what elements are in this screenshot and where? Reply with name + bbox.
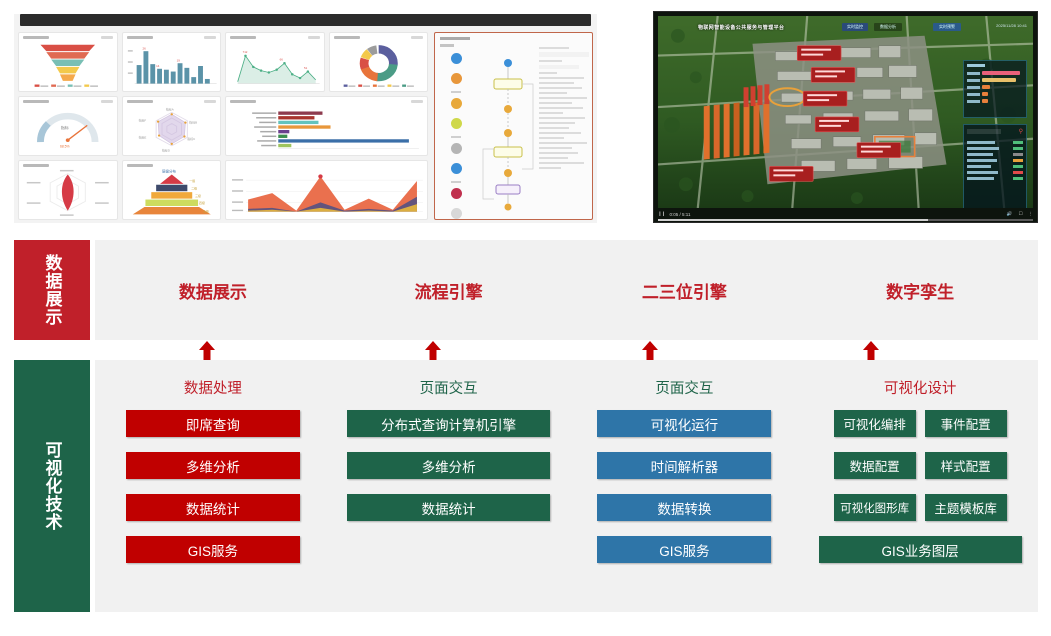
pyramid-chart-card: 一级二级三级四级五级 层级分布 bbox=[122, 160, 222, 220]
box-row: GIS服务 bbox=[95, 536, 331, 563]
tech-box[interactable]: 主题模板库 bbox=[925, 494, 1007, 521]
card-actions-icon bbox=[101, 36, 113, 39]
box-stack: 可视化编排 事件配置 数据配置 样式配置 可视化图形库 主题模板库 GIS业务图… bbox=[802, 410, 1038, 563]
video-timestamp: 0:05 / 5:11 bbox=[670, 212, 691, 217]
svg-text:指标F: 指标F bbox=[138, 119, 146, 123]
donut-chart-icon bbox=[330, 41, 428, 91]
horizontal-bar-chart-icon bbox=[226, 105, 427, 155]
flow-panel-subtitle-bar bbox=[440, 44, 454, 47]
svg-text:14: 14 bbox=[156, 64, 160, 68]
box-row: 即席查询 bbox=[95, 410, 331, 437]
svg-text:指标A: 指标A bbox=[165, 108, 173, 112]
svg-text:一级: 一级 bbox=[189, 179, 195, 183]
area-line-chart-icon: 7126651 bbox=[226, 41, 324, 91]
palette-node-icon[interactable] bbox=[451, 163, 462, 174]
card-actions-icon bbox=[204, 100, 216, 103]
card-actions-icon bbox=[411, 100, 423, 103]
palette-node-icon[interactable] bbox=[451, 143, 462, 154]
card-title-bar bbox=[23, 36, 49, 39]
tech-box[interactable]: GIS服务 bbox=[126, 536, 300, 563]
svg-text:三级: 三级 bbox=[195, 194, 201, 198]
box-row: 时间解析器 bbox=[567, 452, 803, 479]
tech-box[interactable]: 数据统计 bbox=[126, 494, 300, 521]
bi-dashboard-screenshot: 261419 bbox=[14, 14, 597, 223]
stacked-area-chart-card bbox=[225, 160, 428, 220]
tech-box[interactable]: 多维分析 bbox=[347, 452, 550, 479]
up-arrow-icon bbox=[198, 341, 216, 360]
radar-chart-icon: 指标A指标B指标C指标D指标E指标F bbox=[123, 105, 221, 155]
svg-text:层级分布: 层级分布 bbox=[162, 169, 177, 174]
volume-icon[interactable]: 🔊 bbox=[1007, 211, 1013, 217]
diagram-page: 261419 bbox=[0, 0, 1051, 636]
svg-text:指标: 指标 bbox=[61, 125, 69, 130]
palette-node-icon[interactable] bbox=[451, 118, 462, 129]
palette-label bbox=[451, 136, 461, 138]
column-header: 页面交互 bbox=[420, 377, 478, 398]
card-actions-icon bbox=[308, 36, 320, 39]
svg-text:51: 51 bbox=[304, 66, 308, 70]
box-row: 可视化图形库 主题模板库 bbox=[802, 494, 1038, 521]
up-arrow-icon bbox=[641, 341, 659, 360]
card-title-bar bbox=[127, 100, 153, 103]
box-row-empty bbox=[331, 536, 567, 563]
column-flow-engine: 流程引擎 bbox=[331, 240, 567, 340]
box-row: 多维分析 bbox=[95, 452, 331, 479]
map-callout-markers[interactable] bbox=[658, 16, 1033, 208]
box-row: 数据转换 bbox=[567, 494, 803, 521]
tech-box[interactable]: 可视化运行 bbox=[597, 410, 771, 437]
svg-text:19: 19 bbox=[176, 58, 180, 62]
tech-box[interactable]: 分布式查询计算机引擎 bbox=[347, 410, 550, 437]
tech-box[interactable]: 数据统计 bbox=[347, 494, 550, 521]
column-data-display: 数据展示 bbox=[95, 240, 331, 340]
palette-node-icon[interactable] bbox=[451, 208, 462, 219]
box-row: 可视化运行 bbox=[567, 410, 803, 437]
card-title-bar bbox=[127, 36, 153, 39]
tech-box[interactable]: 可视化图形库 bbox=[834, 494, 916, 521]
box-row: GIS业务图层 bbox=[802, 536, 1038, 563]
palette-node-icon[interactable] bbox=[451, 73, 462, 84]
column-2d3d-engine: 二三位引擎 bbox=[567, 240, 803, 340]
svg-text:68.5%: 68.5% bbox=[60, 145, 70, 149]
column-digital-twin: 数字孪生 bbox=[802, 240, 1038, 340]
tech-box[interactable]: 多维分析 bbox=[126, 452, 300, 479]
palette-label bbox=[451, 181, 461, 183]
stacked-area-chart-icon bbox=[226, 169, 427, 219]
more-options-icon[interactable]: ⋮ bbox=[1029, 211, 1034, 217]
band-bottom-columns: 数据处理 即席查询 多维分析 数据统计 GIS服务 bbox=[95, 360, 1038, 612]
card-title-bar bbox=[230, 100, 256, 103]
box-row: 数据统计 bbox=[95, 494, 331, 521]
bi-dashboard-titlebar bbox=[20, 14, 591, 26]
column-header: 二三位引擎 bbox=[642, 278, 727, 303]
tech-box[interactable]: 数据配置 bbox=[834, 452, 916, 479]
tech-box[interactable]: 数据转换 bbox=[597, 494, 771, 521]
box-row: 多维分析 bbox=[331, 452, 567, 479]
svg-text:712: 712 bbox=[243, 50, 248, 54]
band-panel-top: 数据展示 流程引擎 二三位引擎 数字孪生 bbox=[95, 240, 1038, 340]
tech-box[interactable]: 即席查询 bbox=[126, 410, 300, 437]
column-header: 数据展示 bbox=[179, 278, 247, 303]
tech-box[interactable]: 样式配置 bbox=[925, 452, 1007, 479]
radar-chart-card: 指标A指标B指标C指标D指标E指标F bbox=[122, 96, 222, 156]
bar-chart-icon: 261419 bbox=[123, 41, 221, 91]
flow-node-palette[interactable] bbox=[439, 51, 473, 211]
tech-box[interactable]: 事件配置 bbox=[925, 410, 1007, 437]
box-row: 可视化编排 事件配置 bbox=[802, 410, 1038, 437]
digital-twin-map[interactable]: 物联网智能设备公共服务与管理平台 实时监控 数据分析 实时预警 2025/11/… bbox=[658, 16, 1033, 208]
svg-text:五级: 五级 bbox=[202, 210, 208, 214]
horizontal-bar-chart-card bbox=[225, 96, 428, 156]
palette-node-icon[interactable] bbox=[451, 188, 462, 199]
svg-text:指标C: 指标C bbox=[187, 137, 195, 141]
band-panel-bottom: 数据处理 即席查询 多维分析 数据统计 GIS服务 bbox=[95, 360, 1038, 612]
rose-radar-chart-card bbox=[18, 160, 118, 220]
card-title-bar bbox=[23, 164, 49, 167]
pause-icon[interactable]: ❙❙ bbox=[658, 211, 666, 217]
svg-text:指标B: 指标B bbox=[189, 121, 197, 125]
flow-canvas[interactable] bbox=[477, 49, 539, 217]
flow-properties-pane[interactable] bbox=[539, 47, 589, 217]
digital-twin-video[interactable]: 物联网智能设备公共服务与管理平台 实时监控 数据分析 实时预警 2025/11/… bbox=[653, 11, 1038, 223]
flow-panel-title-bar bbox=[440, 37, 470, 40]
up-arrow-icon bbox=[862, 341, 880, 360]
column-data-processing: 数据处理 即席查询 多维分析 数据统计 GIS服务 bbox=[95, 360, 331, 612]
column-visualization-design: 可视化设计 可视化编排 事件配置 数据配置 样式配置 可视化图形库 主题模板库 bbox=[802, 360, 1038, 612]
column-page-interaction-a: 页面交互 分布式查询计算机引擎 多维分析 数据统计 bbox=[331, 360, 567, 612]
box-stack: 即席查询 多维分析 数据统计 GIS服务 bbox=[95, 410, 331, 563]
svg-text:指标E: 指标E bbox=[138, 135, 146, 139]
box-row: 数据统计 bbox=[331, 494, 567, 521]
card-title-bar bbox=[334, 36, 360, 39]
band-label-visualization-tech: 可视化技术 bbox=[14, 360, 90, 612]
column-header: 可视化设计 bbox=[884, 377, 957, 398]
video-scrubber[interactable] bbox=[658, 219, 1033, 221]
svg-text:66: 66 bbox=[280, 58, 284, 62]
rose-radar-chart-icon bbox=[19, 169, 117, 219]
box-row: GIS服务 bbox=[567, 536, 803, 563]
box-stack: 分布式查询计算机引擎 多维分析 数据统计 bbox=[331, 410, 567, 563]
funnel-chart-card bbox=[18, 32, 118, 92]
up-arrow-icon bbox=[424, 341, 442, 360]
fullscreen-icon[interactable]: ☐ bbox=[1018, 211, 1022, 217]
card-actions-icon bbox=[101, 100, 113, 103]
column-header: 数据处理 bbox=[184, 377, 242, 398]
palette-node-icon[interactable] bbox=[451, 53, 462, 64]
donut-chart-card bbox=[329, 32, 429, 92]
card-actions-icon bbox=[411, 36, 423, 39]
svg-text:26: 26 bbox=[142, 46, 146, 50]
tech-box[interactable]: GIS业务图层 bbox=[819, 536, 1022, 563]
card-title-bar bbox=[127, 164, 153, 167]
bar-chart-card: 261419 bbox=[122, 32, 222, 92]
box-row: 数据配置 样式配置 bbox=[802, 452, 1038, 479]
column-header: 流程引擎 bbox=[415, 278, 483, 303]
tech-box[interactable]: 时间解析器 bbox=[597, 452, 771, 479]
box-stack: 可视化运行 时间解析器 数据转换 GIS服务 bbox=[567, 410, 803, 563]
palette-node-icon[interactable] bbox=[451, 98, 462, 109]
funnel-chart-icon bbox=[19, 41, 117, 91]
palette-label bbox=[451, 91, 461, 93]
bi-dashboard-chart-grid: 261419 bbox=[18, 32, 428, 220]
card-title-bar bbox=[230, 36, 256, 39]
column-header: 页面交互 bbox=[655, 377, 713, 398]
column-header: 数字孪生 bbox=[886, 278, 954, 303]
card-title-bar bbox=[23, 100, 49, 103]
top-imagery-area: 261419 bbox=[0, 0, 1051, 232]
flow-designer-panel bbox=[434, 32, 593, 220]
svg-text:四级: 四级 bbox=[199, 201, 205, 205]
pyramid-chart-icon: 一级二级三级四级五级 层级分布 bbox=[123, 169, 221, 219]
card-actions-icon bbox=[204, 36, 216, 39]
box-row: 分布式查询计算机引擎 bbox=[331, 410, 567, 437]
svg-text:指标D: 指标D bbox=[162, 148, 170, 152]
tech-box[interactable]: GIS服务 bbox=[597, 536, 771, 563]
gauge-chart-icon: 指标 68.5% bbox=[19, 105, 117, 155]
column-page-interaction-b: 页面交互 可视化运行 时间解析器 数据转换 GIS服务 bbox=[567, 360, 803, 612]
gauge-chart-card: 指标 68.5% bbox=[18, 96, 118, 156]
area-line-chart-card: 7126651 bbox=[225, 32, 325, 92]
tech-box[interactable]: 可视化编排 bbox=[834, 410, 916, 437]
band-top-columns: 数据展示 流程引擎 二三位引擎 数字孪生 bbox=[95, 240, 1038, 340]
band-label-data-display: 数据展示 bbox=[14, 240, 90, 340]
svg-text:二级: 二级 bbox=[191, 186, 197, 190]
